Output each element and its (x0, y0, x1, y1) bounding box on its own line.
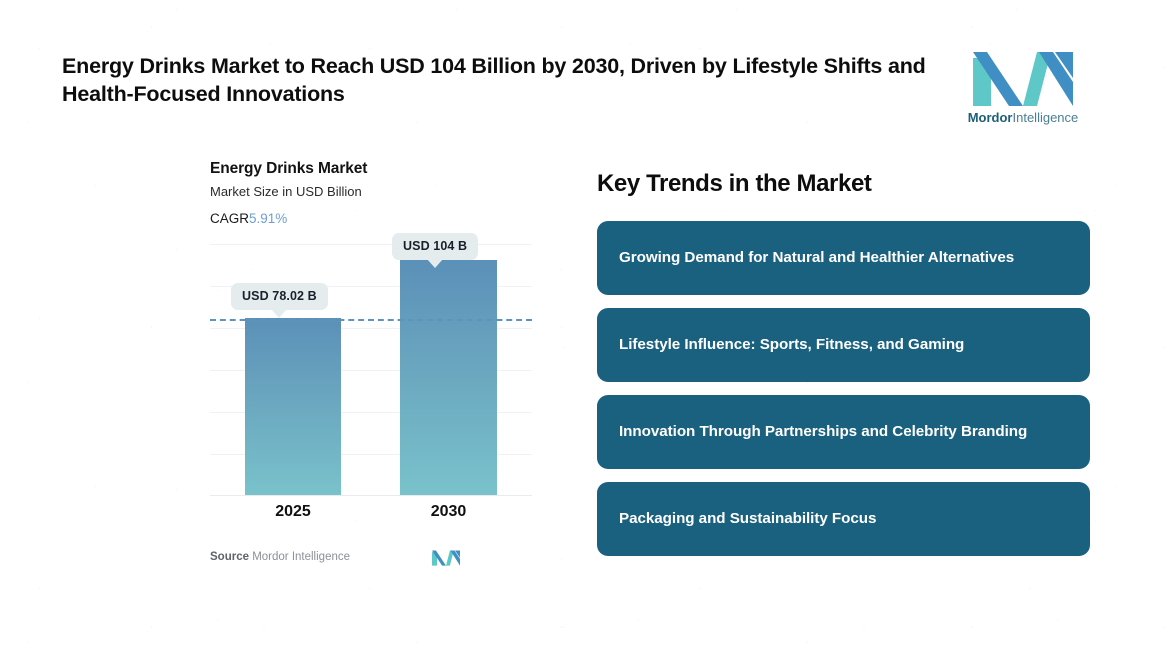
page-title: Energy Drinks Market to Reach USD 104 Bi… (62, 52, 962, 108)
source-label: Source (210, 551, 249, 563)
chart-subtitle: Market Size in USD Billion (210, 184, 540, 199)
trend-card-1-label: Growing Demand for Natural and Healthier… (619, 247, 1014, 269)
reference-dashed-line (210, 319, 532, 321)
source-text: Source Mordor Intelligence (210, 551, 350, 563)
trend-card-4-label: Packaging and Sustainability Focus (619, 508, 876, 530)
brand-logo: MordorIntelligence (964, 48, 1082, 125)
source-mordor-m-logo-icon (432, 549, 460, 566)
header: Energy Drinks Market to Reach USD 104 Bi… (62, 52, 962, 108)
x-tick-2025: 2025 (245, 503, 341, 521)
bar-2025 (245, 318, 341, 495)
gridline (210, 244, 532, 245)
mordor-m-logo-icon (973, 48, 1073, 106)
trend-card-3[interactable]: Innovation Through Partnerships and Cele… (597, 395, 1090, 469)
key-trends-title: Key Trends in the Market (597, 170, 1090, 198)
chart-panel: Energy Drinks Market Market Size in USD … (210, 160, 540, 569)
cagr-row: CAGR5.91% (210, 211, 540, 226)
brand-name-bold: Mordor (968, 110, 1013, 125)
data-label-2025: USD 78.02 B (231, 283, 328, 310)
trend-card-4[interactable]: Packaging and Sustainability Focus (597, 482, 1090, 556)
data-label-2030: USD 104 B (392, 233, 478, 260)
trend-card-2[interactable]: Lifestyle Influence: Sports, Fitness, an… (597, 308, 1090, 382)
key-trends-panel: Key Trends in the Market Growing Demand … (597, 170, 1090, 569)
chart-source: Source Mordor Intelligence (210, 549, 532, 569)
chart-title: Energy Drinks Market (210, 160, 540, 178)
cagr-value: 5.91% (249, 211, 287, 226)
brand-name-light: Intelligence (1013, 110, 1079, 125)
x-axis-labels: 2025 2030 (210, 503, 532, 531)
source-name: Mordor Intelligence (252, 551, 350, 563)
brand-wordmark: MordorIntelligence (964, 110, 1082, 125)
bar-2030 (400, 260, 497, 495)
x-tick-2030: 2030 (400, 503, 497, 521)
trend-card-3-label: Innovation Through Partnerships and Cele… (619, 421, 1027, 443)
chart-plot-area: USD 104 B USD 78.02 B (210, 236, 532, 496)
axis-baseline (210, 495, 532, 496)
trend-card-1[interactable]: Growing Demand for Natural and Healthier… (597, 221, 1090, 295)
trend-card-2-label: Lifestyle Influence: Sports, Fitness, an… (619, 334, 964, 356)
cagr-label: CAGR (210, 211, 249, 226)
